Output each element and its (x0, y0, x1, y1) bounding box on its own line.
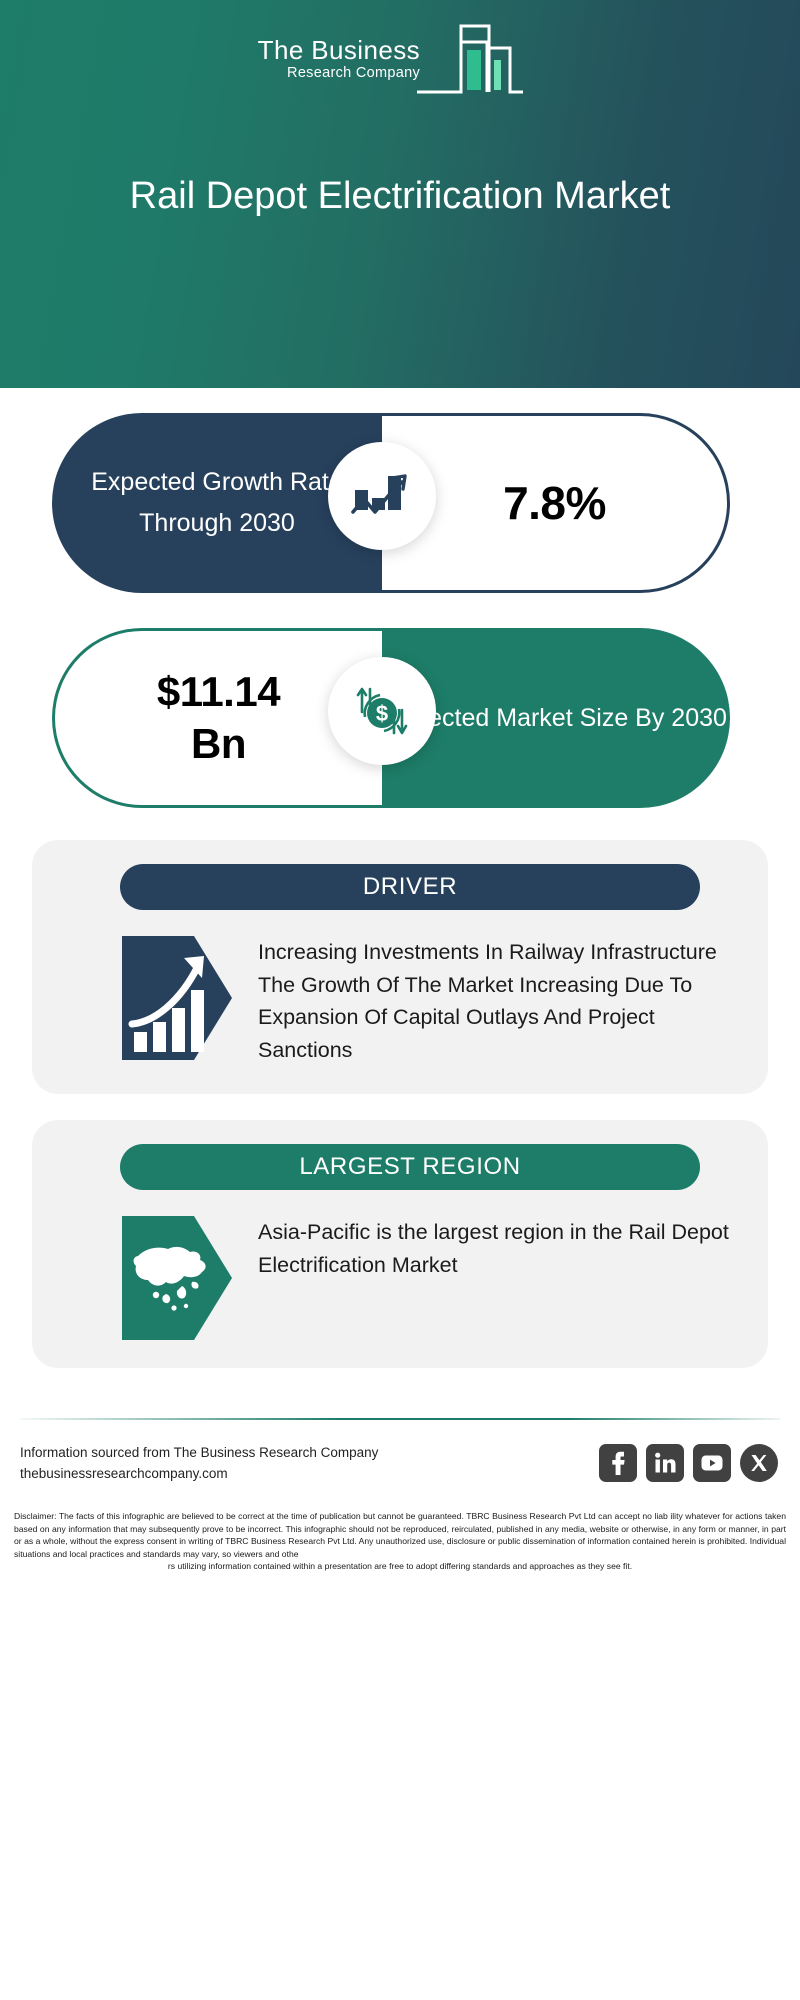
growth-rate-value: 7.8% (503, 476, 606, 530)
growth-bars-arrow-icon (122, 936, 234, 1060)
stat-cards: Expected Growth Rate Through 2030 7.8% $… (0, 388, 800, 818)
driver-panel: DRIVER Increasing Investments In Railway… (32, 840, 768, 1094)
growth-chart-icon (328, 442, 436, 550)
x-twitter-glyph (748, 1452, 770, 1474)
youtube-glyph (700, 1453, 724, 1473)
x-twitter-icon[interactable] (740, 1444, 778, 1482)
source-line-1: Information sourced from The Business Re… (20, 1442, 378, 1463)
growth-chart-icon-svg (351, 468, 413, 524)
largest-region-panel: LARGEST REGION Asia-Pacific is the large… (32, 1120, 768, 1368)
social-links (599, 1444, 778, 1482)
logo-line-1: The Business (215, 36, 420, 64)
youtube-icon[interactable] (693, 1444, 731, 1482)
dollar-cycle-icon: $ (328, 657, 436, 765)
driver-pill-label: DRIVER (363, 873, 457, 901)
largest-region-pill: LARGEST REGION (120, 1144, 700, 1190)
infographic-header: The Business Research Company Rail Depot… (0, 0, 800, 388)
largest-region-body: Asia-Pacific is the largest region in th… (32, 1190, 768, 1340)
asia-map-icon-svg (122, 1216, 234, 1340)
disclaimer-line-5: rs utilizing information contained withi… (14, 1560, 786, 1573)
dollar-cycle-icon-svg: $ (350, 680, 414, 742)
driver-text: Increasing Investments In Railway Infras… (258, 936, 734, 1066)
linkedin-glyph (653, 1451, 677, 1475)
source-line-2[interactable]: thebusinessresearchcompany.com (20, 1463, 378, 1484)
facebook-glyph (607, 1451, 629, 1475)
disclaimer: Disclaimer: The facts of this infographi… (0, 1484, 800, 1573)
driver-pill: DRIVER (120, 864, 700, 910)
footer-row: Information sourced from The Business Re… (0, 1420, 800, 1484)
bar-chart-logo-mark (415, 22, 525, 98)
infographic-footer: Information sourced from The Business Re… (0, 1412, 800, 1573)
growth-bars-arrow-icon-svg (122, 936, 234, 1060)
disclaimer-line-1: Disclaimer: The facts of this infographi… (14, 1511, 668, 1521)
page-title: Rail Depot Electrification Market (0, 170, 800, 222)
market-size-value-line1: $11.14 (157, 668, 280, 715)
market-size-value: $11.14 Bn (157, 666, 280, 770)
asia-map-icon (122, 1216, 234, 1340)
stat-card-growth-rate: Expected Growth Rate Through 2030 7.8% (0, 388, 800, 603)
logo-wordmark: The Business Research Company (215, 36, 420, 82)
largest-region-pill-label: LARGEST REGION (299, 1153, 520, 1181)
stat-card-market-size: $11.14 Bn Expected Market Size By 2030 $ (0, 603, 800, 818)
linkedin-icon[interactable] (646, 1444, 684, 1482)
driver-body: Increasing Investments In Railway Infras… (32, 910, 768, 1066)
market-size-value-line2: Bn (191, 720, 246, 767)
largest-region-text: Asia-Pacific is the largest region in th… (258, 1216, 734, 1281)
svg-text:$: $ (376, 701, 388, 726)
logo-line-2: Research Company (215, 64, 420, 82)
source-credit: Information sourced from The Business Re… (20, 1442, 378, 1484)
company-logo: The Business Research Company (215, 22, 525, 100)
facebook-icon[interactable] (599, 1444, 637, 1482)
